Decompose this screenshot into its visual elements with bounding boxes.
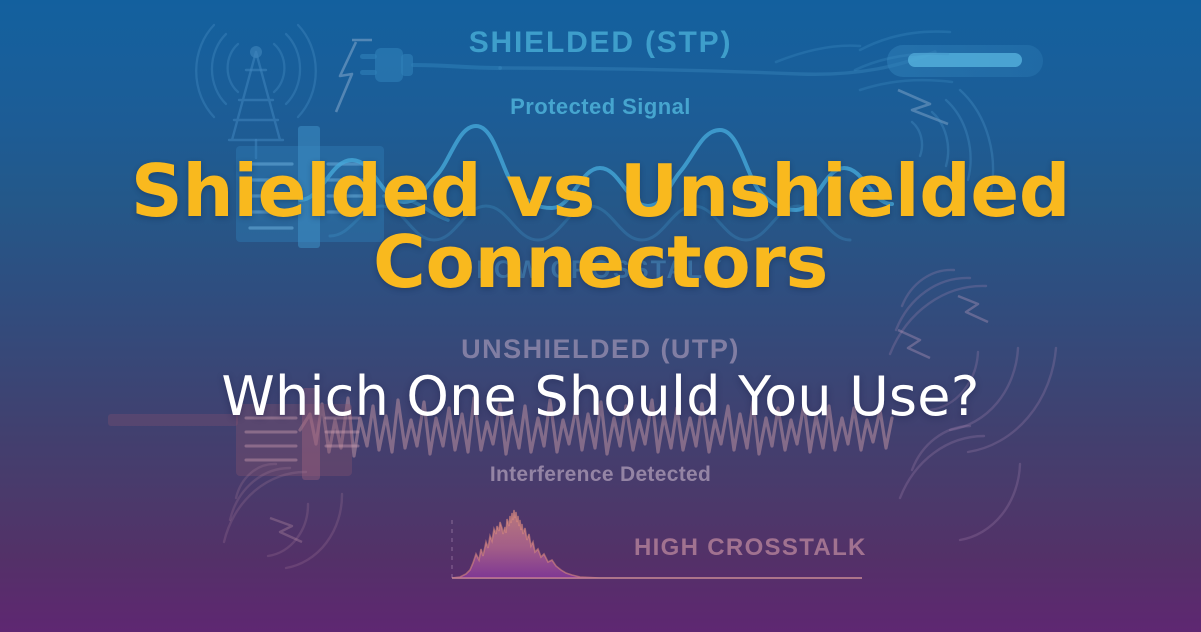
headline-line-1: Shielded vs Unshielded bbox=[0, 158, 1201, 225]
label-unshielded-utp: UNSHIELDED (UTP) bbox=[0, 334, 1201, 365]
banner-graphic: SHIELDED (STP) Protected Signal LOW CROS… bbox=[0, 0, 1201, 632]
headline-subtitle: Which One Should You Use? bbox=[0, 365, 1201, 428]
headline-line-2: Connectors bbox=[0, 229, 1201, 296]
label-protected-signal: Protected Signal bbox=[0, 94, 1201, 120]
label-high-crosstalk: HIGH CROSSTALK bbox=[634, 534, 867, 562]
label-shielded-stp: SHIELDED (STP) bbox=[0, 26, 1201, 60]
label-interference-detected: Interference Detected bbox=[0, 463, 1201, 487]
headline-title: Shielded vs Unshielded Connectors bbox=[0, 158, 1201, 296]
